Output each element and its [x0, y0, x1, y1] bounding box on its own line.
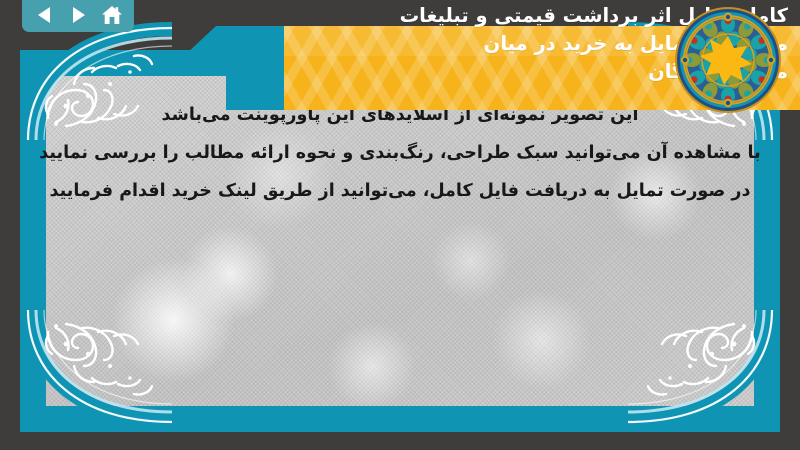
home-icon: [101, 5, 123, 25]
forward-button[interactable]: [65, 3, 91, 27]
home-button[interactable]: [99, 3, 125, 27]
body-line-3: در صورت تمایل به دریافت فایل کامل، می‌تو…: [34, 172, 766, 210]
back-triangle-icon: [36, 6, 53, 24]
navigation-bar: [22, 0, 134, 32]
slide-viewer: این تصویر نمونه‌ای از اسلایدهای این پاور…: [0, 0, 800, 450]
back-button[interactable]: [31, 3, 57, 27]
body-line-2: با مشاهده آن می‌توانید سبک طراحی، رنگ‌بن…: [34, 134, 766, 172]
forward-triangle-icon: [70, 6, 87, 24]
persian-medallion-ornament: [672, 4, 784, 116]
